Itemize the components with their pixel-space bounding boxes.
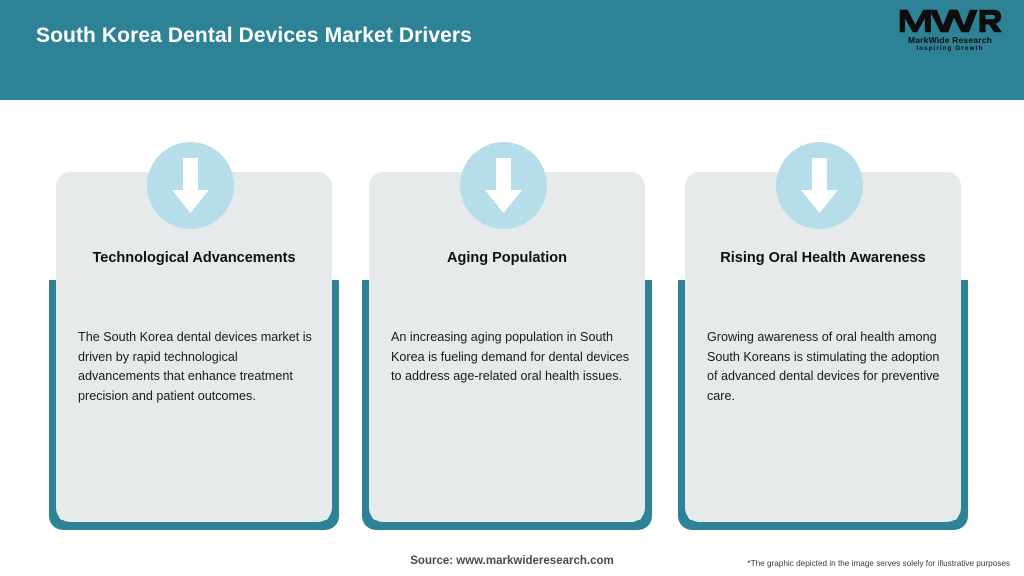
page-header: South Korea Dental Devices Market Driver… [0, 0, 1024, 100]
driver-cards-container: Technological Advancements The South Kor… [0, 100, 1024, 540]
card-title: Aging Population [369, 250, 645, 266]
brand-logo: MarkWide Research Inspiring Growth [894, 8, 1006, 60]
card-title: Rising Oral Health Awareness [685, 250, 961, 266]
arrow-down-glyph [798, 158, 841, 214]
driver-card: Aging Population An increasing aging pop… [347, 100, 651, 540]
arrow-down-glyph [482, 158, 525, 214]
card-body-text: An increasing aging population in South … [391, 328, 636, 387]
arrow-down-icon [460, 142, 547, 229]
arrow-down-glyph [169, 158, 212, 214]
page-title: South Korea Dental Devices Market Driver… [36, 24, 472, 48]
driver-card: Rising Oral Health Awareness Growing awa… [663, 100, 967, 540]
card-body-text: The South Korea dental devices market is… [78, 328, 323, 406]
arrow-down-icon [147, 142, 234, 229]
logo-company-name: MarkWide Research [894, 35, 1006, 45]
illustrative-disclaimer: *The graphic depicted in the image serve… [747, 559, 1010, 568]
logo-tagline: Inspiring Growth [894, 45, 1006, 53]
card-body-text: Growing awareness of oral health among S… [707, 328, 952, 406]
card-title: Technological Advancements [56, 250, 332, 266]
mwr-logo-icon [898, 8, 1002, 34]
arrow-down-icon [776, 142, 863, 229]
driver-card: Technological Advancements The South Kor… [34, 100, 338, 540]
